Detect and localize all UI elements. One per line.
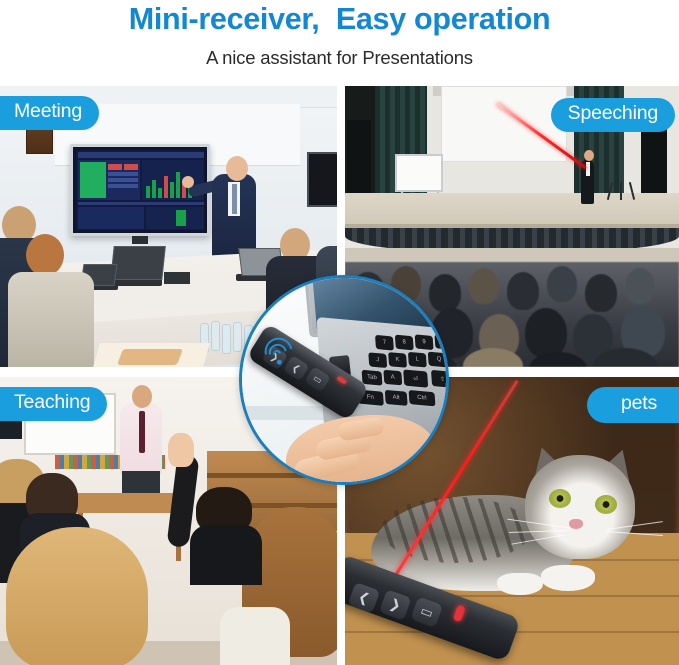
product-feature-image: Mini-receiver, Easy operation A nice ass…	[0, 0, 679, 665]
remote-screen-button[interactable]: ▭	[304, 366, 330, 392]
attendee	[14, 234, 86, 367]
page-title: Mini-receiver, Easy operation	[0, 0, 679, 35]
student	[6, 527, 156, 665]
whiteboard	[395, 154, 443, 192]
remote-next-button[interactable]: ❯	[379, 589, 412, 620]
badge-pets: pets	[587, 387, 679, 423]
header: Mini-receiver, Easy operation A nice ass…	[0, 0, 679, 82]
cat-eye	[595, 495, 617, 514]
led-indicator	[337, 376, 348, 385]
remote-screen-button[interactable]: ▭	[410, 596, 443, 627]
student	[196, 487, 266, 577]
tripod-icon	[609, 182, 633, 200]
led-indicator	[453, 605, 466, 623]
cat-eye	[549, 489, 571, 508]
raised-hand	[168, 433, 194, 467]
page-subtitle: A nice assistant for Presentations	[0, 35, 679, 68]
badge-speeching: Speeching	[551, 98, 675, 132]
wifi-waves-icon	[262, 324, 309, 371]
projection-screen	[441, 86, 567, 162]
badge-teaching: Teaching	[0, 387, 107, 421]
usb-receiver-pairing-closeup: 7 8 9 0 J K L Q Tab A ⏎ ⇧ Fn Alt Ctrl	[239, 275, 449, 485]
badge-meeting: Meeting	[0, 96, 99, 130]
